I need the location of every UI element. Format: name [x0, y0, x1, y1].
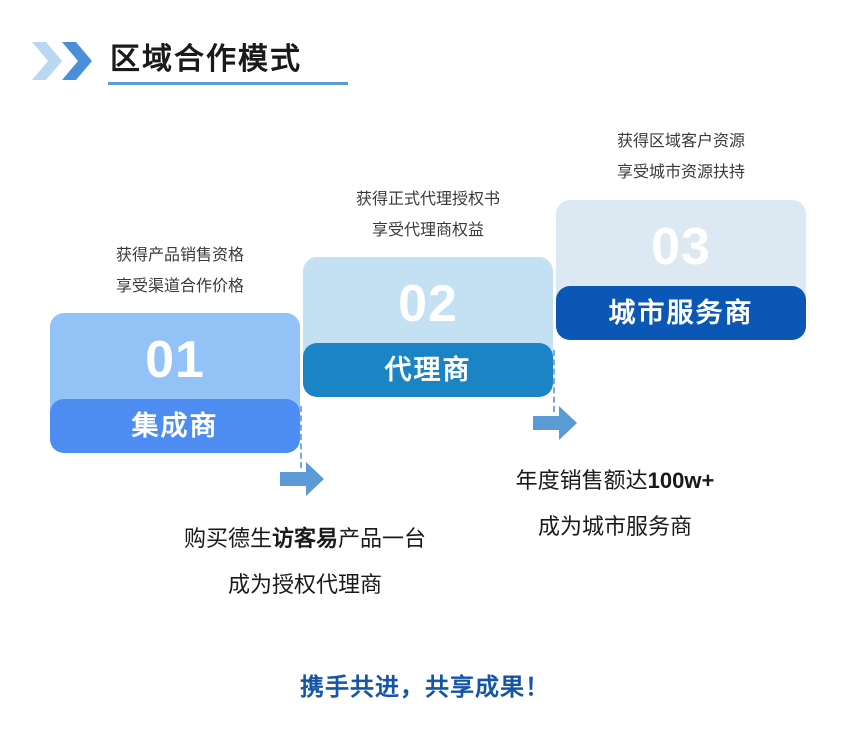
- step-band-02: 代理商: [303, 343, 553, 397]
- step-card-02[interactable]: 02 代理商: [303, 257, 553, 397]
- step-card-03[interactable]: 03 城市服务商: [556, 200, 806, 340]
- requirement-text-2-line2: 成为城市服务商: [455, 504, 775, 550]
- step-number-02: 02: [303, 273, 553, 335]
- requirement-2-prefix: 年度销售额达: [516, 468, 648, 493]
- step-caption-02-line1: 获得正式代理授权书: [303, 184, 553, 215]
- step-band-01: 集成商: [50, 399, 300, 453]
- requirement-2-strong: 100w+: [648, 468, 715, 493]
- arrow-right-icon-1: [280, 462, 324, 496]
- requirement-text-1: 购买德生访客易产品一台 成为授权代理商: [140, 516, 470, 608]
- step-card-01[interactable]: 01 集成商: [50, 313, 300, 453]
- requirement-text-2: 年度销售额达100w+ 成为城市服务商: [455, 458, 775, 550]
- header: 区域合作模式: [0, 0, 850, 100]
- chevron-right-icon-dark: [62, 42, 92, 80]
- double-chevron-icon: [32, 42, 108, 80]
- step-caption-01-line1: 获得产品销售资格: [55, 240, 305, 271]
- step-band-03: 城市服务商: [556, 286, 806, 340]
- step-name-01: 集成商: [132, 411, 219, 441]
- requirement-text-2-line1: 年度销售额达100w+: [455, 458, 775, 504]
- requirement-text-1-line2: 成为授权代理商: [140, 562, 470, 608]
- step-caption-02-line2: 享受代理商权益: [303, 215, 553, 246]
- step-caption-02: 获得正式代理授权书 享受代理商权益: [303, 184, 553, 246]
- chevron-right-icon-light: [32, 42, 62, 80]
- connector-dashed-line-2: [553, 350, 555, 412]
- footer-slogan: 携手共进，共享成果！: [0, 672, 850, 704]
- title-underline: [108, 82, 348, 85]
- step-caption-03-line1: 获得区域客户资源: [556, 126, 806, 157]
- step-name-02: 代理商: [385, 355, 472, 385]
- step-caption-01-line2: 享受渠道合作价格: [55, 271, 305, 302]
- step-caption-03-line2: 享受城市资源扶持: [556, 157, 806, 188]
- step-caption-01: 获得产品销售资格 享受渠道合作价格: [55, 240, 305, 302]
- requirement-text-1-line1: 购买德生访客易产品一台: [140, 516, 470, 562]
- infographic-canvas: 区域合作模式 获得产品销售资格 享受渠道合作价格 获得正式代理授权书 享受代理商…: [0, 0, 850, 737]
- arrow-right-icon-2: [533, 406, 577, 440]
- connector-dashed-line-1: [300, 406, 302, 468]
- requirement-1-suffix: 产品一台: [338, 526, 426, 551]
- step-caption-03: 获得区域客户资源 享受城市资源扶持: [556, 126, 806, 188]
- page-title: 区域合作模式: [110, 41, 302, 79]
- requirement-1-prefix: 购买德生: [184, 526, 272, 551]
- step-name-03: 城市服务商: [609, 298, 754, 328]
- requirement-1-strong: 访客易: [272, 526, 338, 551]
- step-number-01: 01: [50, 329, 300, 391]
- step-number-03: 03: [556, 216, 806, 278]
